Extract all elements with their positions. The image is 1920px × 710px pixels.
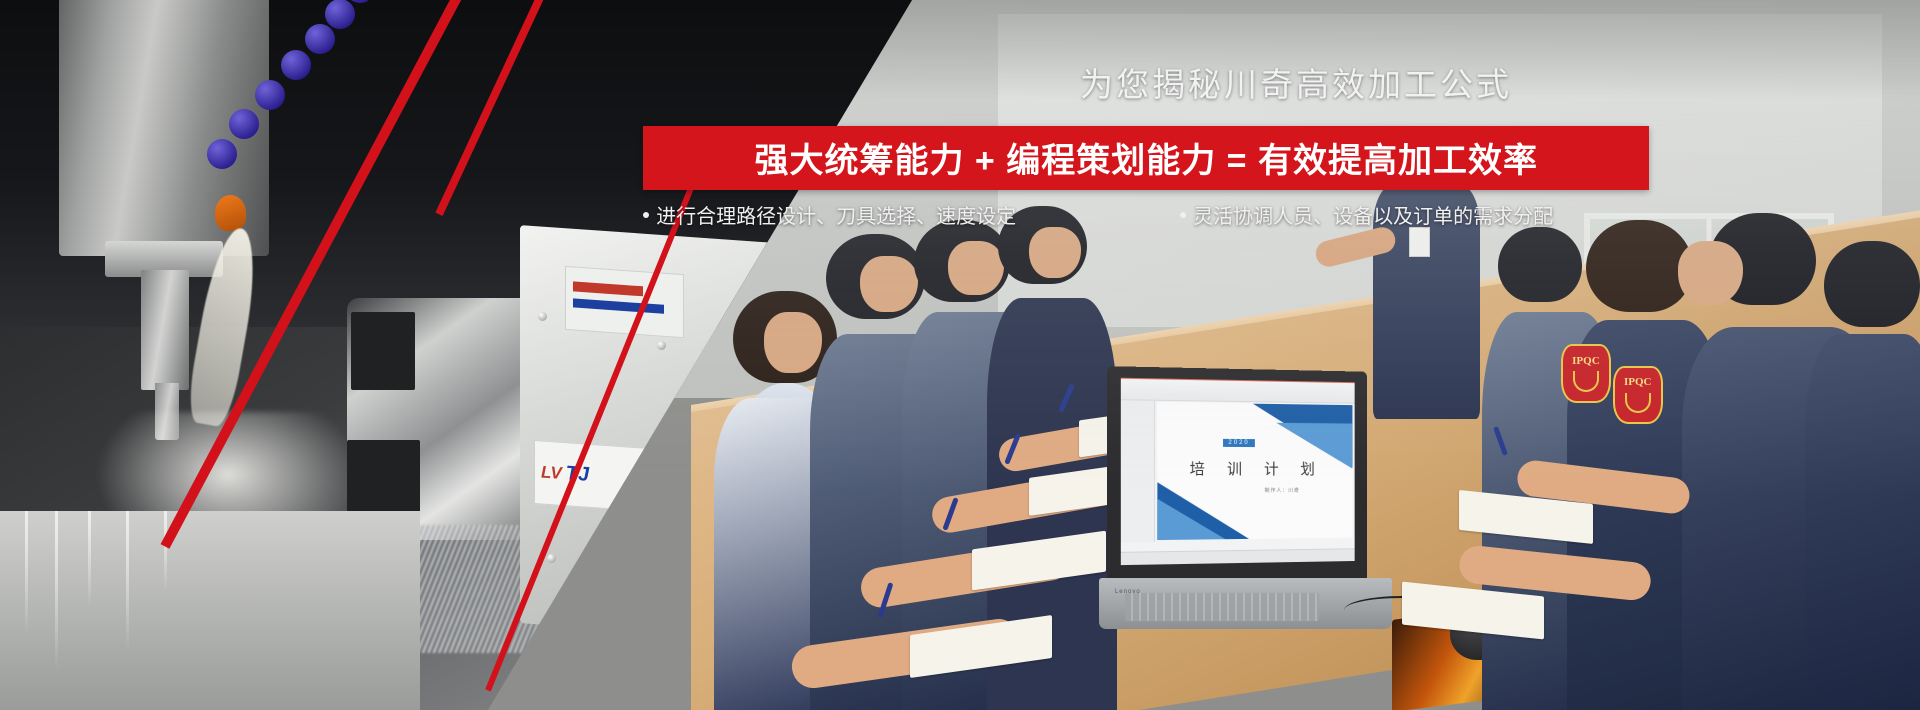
list-item: 进行合理路径设计、刀具选择、速度设定 bbox=[643, 200, 1016, 229]
coolant-nozzle bbox=[215, 195, 246, 231]
slogan-text: 强大统筹能力 + 编程策划能力 = 有效提高加工效率 bbox=[754, 133, 1538, 182]
slogan-banner: 强大统筹能力 + 编程策划能力 = 有效提高加工效率 bbox=[643, 126, 1649, 189]
tool-holder bbox=[141, 270, 188, 391]
brand-lv-text: LV bbox=[541, 463, 562, 484]
list-item: 灵活协调人员、设备以及订单的需求分配 bbox=[1180, 200, 1553, 229]
bullet-dot-icon bbox=[1180, 212, 1186, 218]
promo-banner: 2020 培 训 计 划 制作人：川奇 Lenovo bbox=[0, 0, 1920, 710]
page-title: 为您揭秘川奇高效加工公式 bbox=[902, 58, 1689, 106]
machine-bed bbox=[0, 511, 420, 710]
bullet-label: 灵活协调人员、设备以及订单的需求分配 bbox=[1193, 200, 1553, 229]
bullet-label: 进行合理路径设计、刀具选择、速度设定 bbox=[656, 200, 1016, 229]
feature-bullet-list: 进行合理路径设计、刀具选择、速度设定 灵活协调人员、设备以及订单的需求分配 bbox=[643, 200, 1699, 229]
bullet-dot-icon bbox=[643, 212, 649, 218]
